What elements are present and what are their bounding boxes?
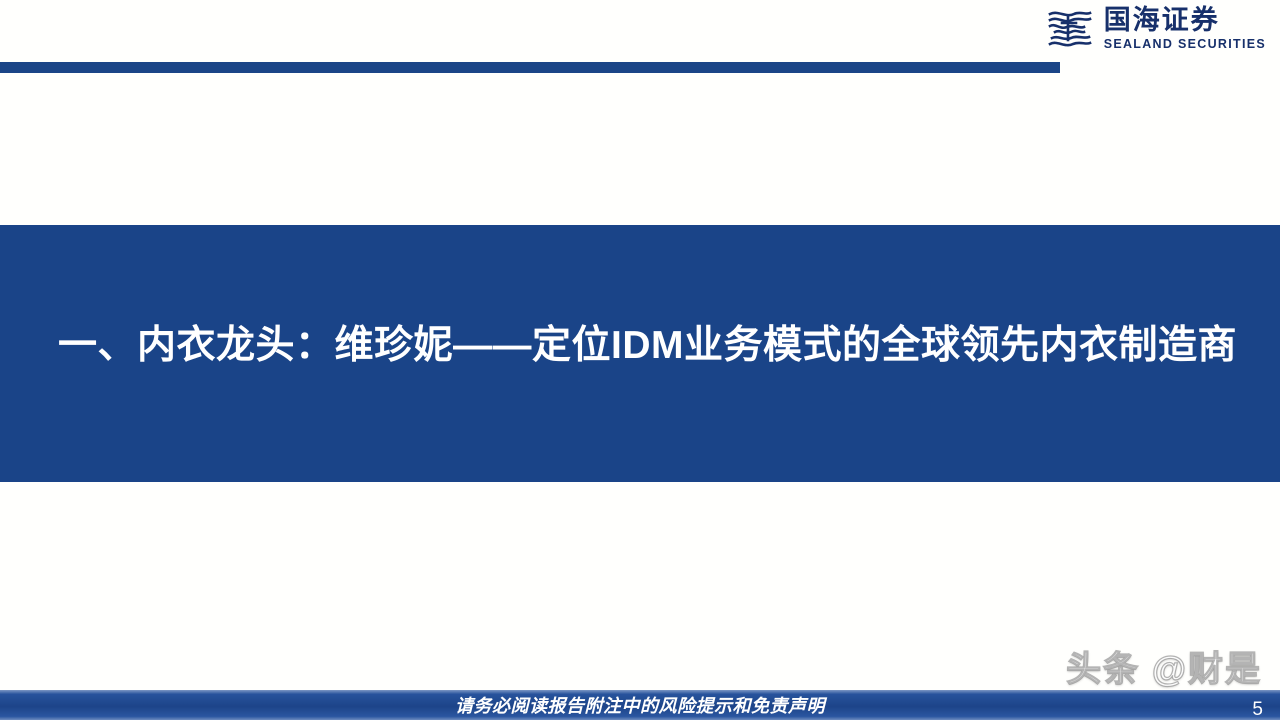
brand-name-cn: 国海证券	[1104, 6, 1266, 34]
section-title-band: 一、内衣龙头：维珍妮——定位IDM业务模式的全球领先内衣制造商	[0, 225, 1280, 482]
header-divider-rule	[0, 62, 1060, 73]
sealand-wave-logo-icon	[1046, 7, 1094, 51]
brand-name-en: SEALAND SECURITIES	[1104, 37, 1266, 52]
watermark-text: 头条 @财是	[1066, 641, 1262, 692]
page-number: 5	[1252, 700, 1263, 719]
brand-wordmark: 国海证券 SEALAND SECURITIES	[1104, 6, 1266, 52]
brand-logo-lockup: 国海证券 SEALAND SECURITIES	[1046, 6, 1266, 52]
footer-disclaimer: 请务必阅读报告附注中的风险提示和免责声明	[0, 692, 1280, 718]
footer-bar: 请务必阅读报告附注中的风险提示和免责声明 5	[0, 690, 1280, 720]
section-title-text: 一、内衣龙头：维珍妮——定位IDM业务模式的全球领先内衣制造商	[58, 314, 1237, 370]
presentation-slide: 国海证券 SEALAND SECURITIES 一、内衣龙头：维珍妮——定位ID…	[0, 0, 1280, 720]
